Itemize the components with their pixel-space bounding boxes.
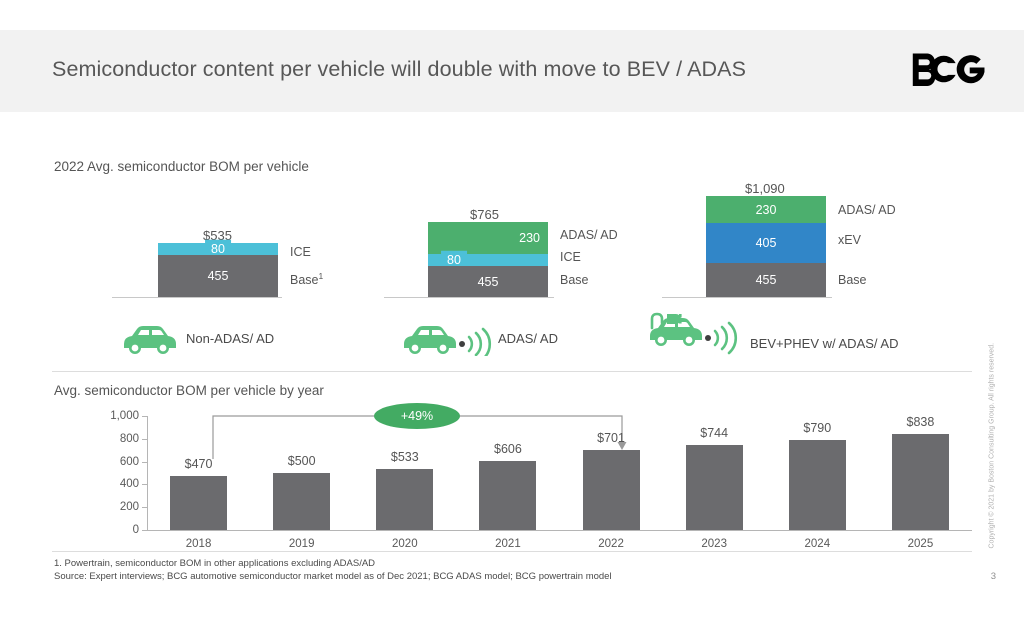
y-axis-tick-label: 800 (59, 433, 139, 445)
segment-xev-value: 405 (756, 236, 777, 250)
legend-ice: ICE (560, 250, 581, 264)
legend-base: Base (560, 273, 589, 287)
vehicle-type-adas: ADAS/ AD (398, 322, 494, 361)
y-axis-tick-label: 200 (59, 501, 139, 513)
bar-value-label: $744 (700, 426, 728, 440)
vehicle-type-label: ADAS/ AD (498, 331, 558, 346)
stack-total-label: $1,090 (745, 181, 785, 196)
x-axis-tick-label: 2022 (598, 538, 624, 550)
legend-xev: xEV (838, 233, 861, 247)
bar-value-label: $606 (494, 442, 522, 456)
legend-base-footnote-marker: 1 (319, 271, 324, 281)
copyright-notice: Copyright © 2021 by Boston Consulting Gr… (989, 369, 996, 549)
x-axis-tick-label: 2025 (908, 538, 934, 550)
y-axis-tick-mark (142, 530, 147, 531)
bar-value-label: $470 (185, 457, 213, 471)
x-axis-line (147, 530, 972, 531)
bar-column[interactable] (273, 473, 330, 530)
bar-column[interactable] (583, 450, 640, 530)
stacked-bar[interactable]: 80 455 (158, 243, 278, 297)
stack-baseline (112, 297, 282, 298)
legend-ice: ICE (290, 245, 311, 259)
bar-column[interactable] (789, 440, 846, 530)
vehicle-type-non-adas: Non-ADAS/ AD (118, 322, 184, 361)
bar-value-label: $500 (288, 454, 316, 468)
segment-ice[interactable]: 80 (158, 243, 278, 255)
growth-badge: +49% (374, 403, 460, 429)
segment-base-value: 455 (208, 269, 229, 283)
x-axis-tick-label: 2018 (186, 538, 212, 550)
segment-base[interactable]: 455 (706, 263, 826, 297)
segment-base-value: 455 (756, 273, 777, 287)
section-divider (52, 371, 972, 372)
y-axis-tick-mark (142, 484, 147, 485)
bar-column[interactable] (686, 445, 743, 530)
page-number: 3 (991, 571, 996, 582)
bottom-section-title: Avg. semiconductor BOM per vehicle by ye… (54, 383, 324, 398)
x-axis-tick-label: 2019 (289, 538, 315, 550)
legend-base: Base (838, 273, 867, 287)
legend-base-text: Base (290, 273, 319, 287)
legend-base: Base1 (290, 271, 323, 287)
y-axis-tick-label: 1,000 (59, 410, 139, 422)
bar-chart: +49% 02004006008001,000$4702018$5002019$… (52, 404, 972, 549)
segment-adas[interactable]: 230 (428, 222, 548, 254)
segment-base[interactable]: 455 (428, 266, 548, 297)
y-axis-tick-label: 600 (59, 456, 139, 468)
stack-total-label: $765 (470, 207, 499, 222)
top-section-title: 2022 Avg. semiconductor BOM per vehicle (54, 159, 309, 174)
bar-column[interactable] (892, 434, 949, 530)
segment-adas-value: 230 (756, 203, 777, 217)
y-axis-tick-mark (142, 462, 147, 463)
bar-value-label: $533 (391, 450, 419, 464)
bcg-logo-icon (912, 52, 986, 86)
footnote-1: 1. Powertrain, semiconductor BOM in othe… (54, 558, 375, 569)
segment-adas-value: 230 (519, 231, 540, 245)
bar-column[interactable] (479, 461, 536, 530)
bar-value-label: $790 (803, 421, 831, 435)
slide: Semiconductor content per vehicle will d… (0, 0, 1024, 640)
x-axis-tick-label: 2021 (495, 538, 521, 550)
vehicle-type-label: Non-ADAS/ AD (186, 331, 274, 346)
segment-base[interactable]: 455 (158, 255, 278, 297)
segment-ice[interactable]: 80 (428, 254, 548, 266)
footer-divider (52, 551, 972, 552)
stack-baseline (384, 297, 554, 298)
y-axis-tick-mark (142, 507, 147, 508)
legend-adas: ADAS/ AD (838, 203, 896, 217)
y-axis-line (147, 416, 148, 530)
y-axis-tick-mark (142, 439, 147, 440)
segment-xev[interactable]: 405 (706, 223, 826, 263)
x-axis-tick-label: 2020 (392, 538, 418, 550)
x-axis-tick-label: 2024 (805, 538, 831, 550)
legend-adas: ADAS/ AD (560, 228, 618, 242)
x-axis-tick-label: 2023 (701, 538, 727, 550)
car-icon (118, 343, 184, 360)
y-axis-tick-mark (142, 416, 147, 417)
bar-column[interactable] (170, 476, 227, 530)
segment-base-value: 455 (478, 275, 499, 289)
vehicle-type-bev-phev: BEV+PHEV w/ ADAS/ AD (636, 312, 746, 365)
page-title: Semiconductor content per vehicle will d… (52, 57, 746, 82)
segment-adas[interactable]: 230 (706, 196, 826, 223)
y-axis-tick-label: 400 (59, 478, 139, 490)
stacked-bar[interactable]: 230 405 455 (706, 196, 826, 297)
car-with-sensor-icon (398, 343, 494, 360)
stack-baseline (662, 297, 832, 298)
footnote-source: Source: Expert interviews; BCG automotiv… (54, 571, 612, 582)
bar-value-label: $838 (907, 415, 935, 429)
y-axis-tick-label: 0 (59, 524, 139, 536)
bar-column[interactable] (376, 469, 433, 530)
vehicle-type-label: BEV+PHEV w/ ADAS/ AD (750, 336, 898, 351)
stacked-bar[interactable]: 230 80 455 (428, 222, 548, 297)
ev-car-with-sensor-icon (636, 347, 746, 364)
bar-value-label: $701 (597, 431, 625, 445)
